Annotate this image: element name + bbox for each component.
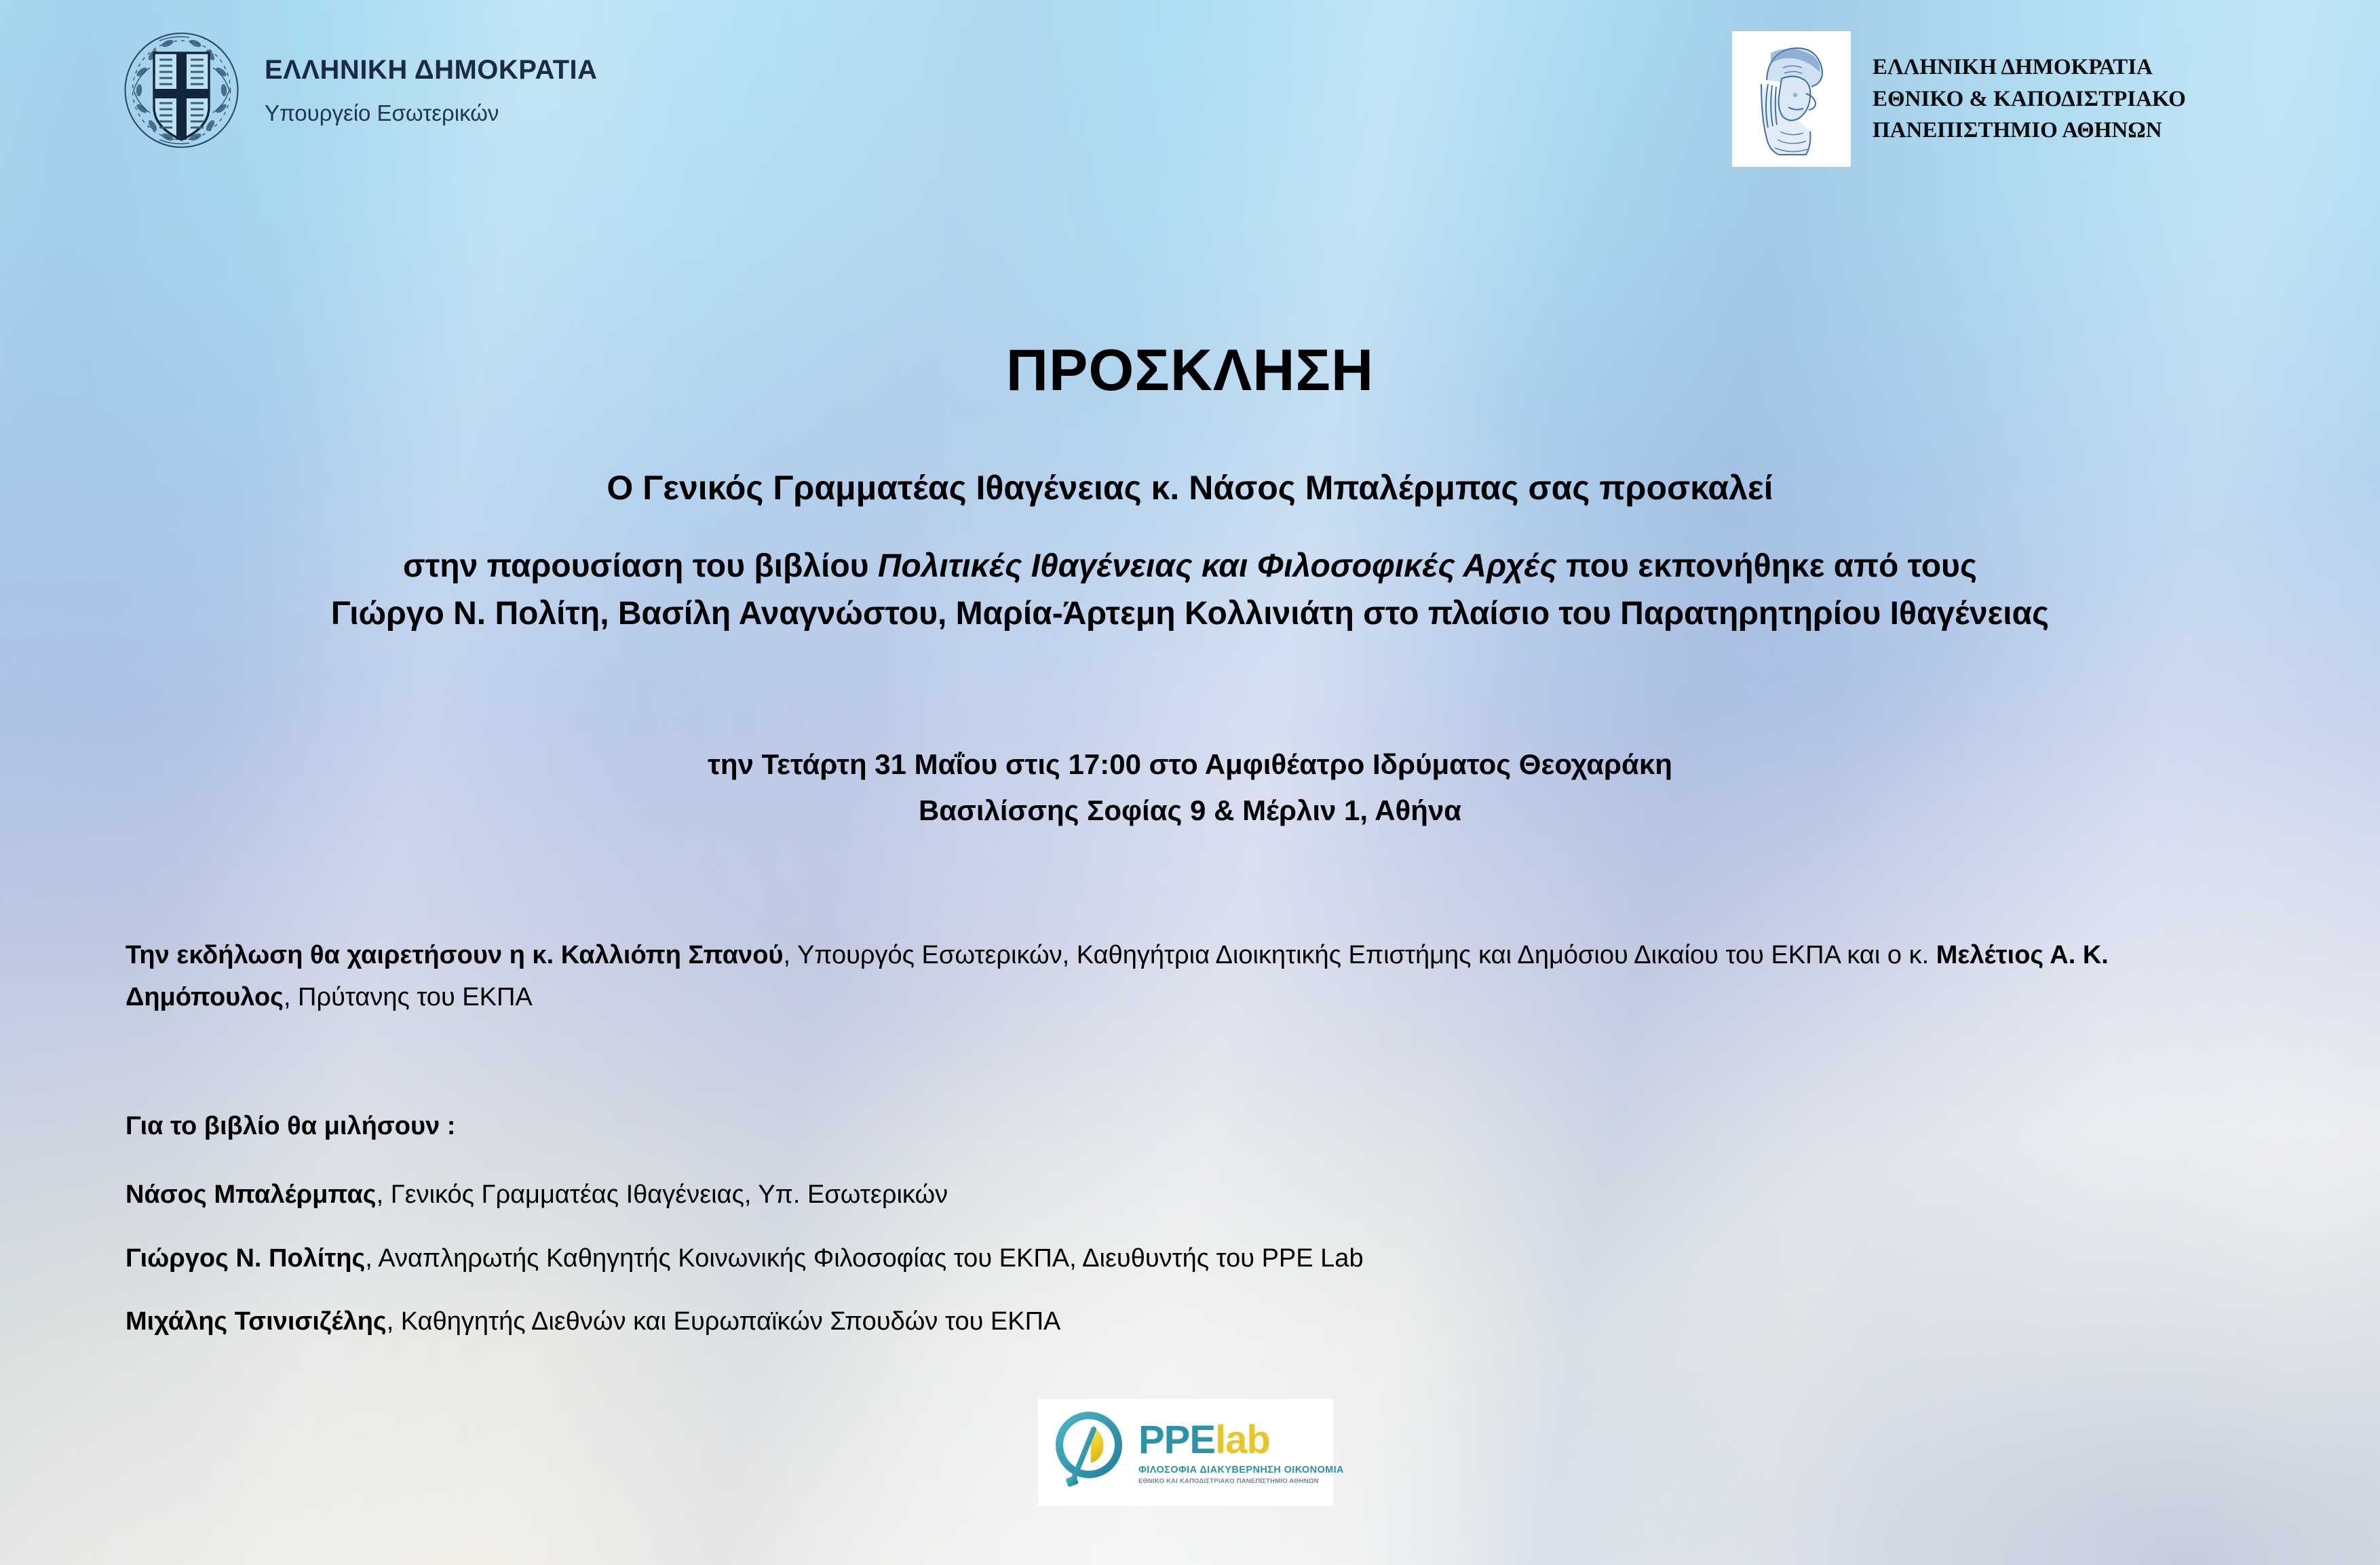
ppe-word: PPE — [1138, 1418, 1215, 1462]
event-datetime-line: την Τετάρτη 31 Μαΐου στις 17:00 στο Αμφι… — [0, 741, 2380, 788]
speaker-item: Γιώργος Ν. Πολίτης, Αναπληρωτής Καθηγητή… — [126, 1242, 2235, 1275]
university-name-line1: ΕΛΛΗΝΙΚΗ ΔΗΜΟΚΡΑΤΙΑ — [1873, 52, 2186, 83]
book-intro-before: στην παρουσίαση του βιβλίου — [403, 548, 878, 584]
lab-word: lab — [1215, 1418, 1270, 1462]
speaker-name: Μιχάλης Τσινισιζέλης — [126, 1307, 387, 1336]
university-logo: ΕΛΛΗΝΙΚΗ ΔΗΜΟΚΡΑΤΙΑ ΕΘΝΙΚΟ & ΚΑΠΟΔΙΣΤΡΙΑ… — [1732, 31, 2186, 167]
ministry-title: ΕΛΛΗΝΙΚΗ ΔΗΜΟΚΡΑΤΙΑ — [265, 55, 598, 85]
book-title: Πολιτικές Ιθαγένειας και Φιλοσοφικές Αρχ… — [878, 548, 1557, 584]
university-name-line2: ΕΘΝΙΚΟ & ΚΑΠΟΔΙΣΤΡΙΑΚΟ — [1873, 83, 2186, 115]
speaker-name: Νάσος Μπαλέρμπας — [126, 1180, 377, 1209]
ministry-subtitle: Υπουργείο Εσωτερικών — [265, 100, 598, 126]
event-details: την Τετάρτη 31 Μαΐου στις 17:00 στο Αμφι… — [0, 741, 2380, 834]
speaker-item: Νάσος Μπαλέρμπας, Γενικός Γραμματέας Ιθα… — [126, 1178, 2235, 1212]
ppe-lab-tagline-primary: ΦΙΛΟΣΟΦΙΑ ΔΙΑΚΥΒΕΡΝΗΣΗ ΟΙΚΟΝΟΜΙΑ — [1138, 1465, 1344, 1475]
speaker-role: , Αναπληρωτής Καθηγητής Κοινωνικής Φιλοσ… — [365, 1244, 1363, 1273]
speaker-role: , Καθηγητής Διεθνών και Ευρωπαϊκών Σπουδ… — [387, 1307, 1061, 1336]
greeting-first-name: Την εκδήλωση θα χαιρετήσουν η κ. Καλλιόπ… — [126, 941, 784, 969]
speakers-heading: Για το βιβλίο θα μιλήσουν : — [126, 1110, 2235, 1143]
ppe-lab-phi-icon — [1049, 1409, 1129, 1496]
speaker-role: , Γενικός Γραμματέας Ιθαγένειας, Υπ. Εσω… — [377, 1180, 948, 1209]
greeting-second-role: , Πρύτανης του ΕΚΠΑ — [284, 983, 533, 1011]
greek-coat-of-arms-icon — [119, 26, 244, 155]
speakers-section: Για το βιβλίο θα μιλήσουν : Νάσος Μπαλέρ… — [126, 1110, 2235, 1339]
greeting-paragraph: Την εκδήλωση θα χαιρετήσουν η κ. Καλλιόπ… — [126, 935, 2235, 1018]
book-intro-after: που εκπονήθηκε από τους — [1557, 548, 1977, 584]
university-emblem-plate — [1732, 31, 1851, 167]
ppe-lab-logo: PPElab ΦΙΛΟΣΟΦΙΑ ΔΙΑΚΥΒΕΡΝΗΣΗ ΟΙΚΟΝΟΜΙΑ … — [1038, 1399, 1333, 1506]
ppe-lab-tagline-secondary: ΕΘΝΙΚΟ ΚΑΙ ΚΑΠΟΔΙΣΤΡΙΑΚΟ ΠΑΝΕΠΙΣΤΗΜΙΟ ΑΘ… — [1138, 1477, 1344, 1485]
page-title: ΠΡΟΣΚΛΗΣΗ — [0, 337, 2380, 404]
book-presentation-paragraph: στην παρουσίαση του βιβλίου Πολιτικές Ιθ… — [122, 543, 2258, 638]
invitation-page: ΕΛΛΗΝΙΚΗ ΔΗΜΟΚΡΑΤΙΑ Υπουργείο Εσωτερικών — [0, 0, 2380, 1565]
university-name-line3: ΠΑΝΕΠΙΣΤΗΜΙΟ ΑΘΗΝΩΝ — [1873, 115, 2186, 147]
greeting-first-role: , Υπουργός Εσωτερικών, Καθηγήτρια Διοικη… — [784, 941, 1936, 969]
speaker-name: Γιώργος Ν. Πολίτης — [126, 1244, 365, 1273]
athena-head-icon — [1741, 37, 1843, 162]
event-address-line: Βασιλίσσης Σοφίας 9 & Μέρλιν 1, Αθήνα — [0, 788, 2380, 834]
university-name-block: ΕΛΛΗΝΙΚΗ ΔΗΜΟΚΡΑΤΙΑ ΕΘΝΙΚΟ & ΚΑΠΟΔΙΣΤΡΙΑ… — [1873, 52, 2186, 147]
invite-line: Ο Γενικός Γραμματέας Ιθαγένειας κ. Νάσος… — [0, 468, 2380, 507]
ppe-lab-wordmark: PPElab — [1138, 1421, 1344, 1460]
speaker-item: Μιχάλης Τσινισιζέλης, Καθηγητής Διεθνών … — [126, 1305, 2235, 1338]
ministry-logo: ΕΛΛΗΝΙΚΗ ΔΗΜΟΚΡΑΤΙΑ Υπουργείο Εσωτερικών — [119, 26, 598, 155]
book-authors-line: Γιώργο Ν. Πολίτη, Βασίλη Αναγνώστου, Μαρ… — [122, 590, 2258, 638]
